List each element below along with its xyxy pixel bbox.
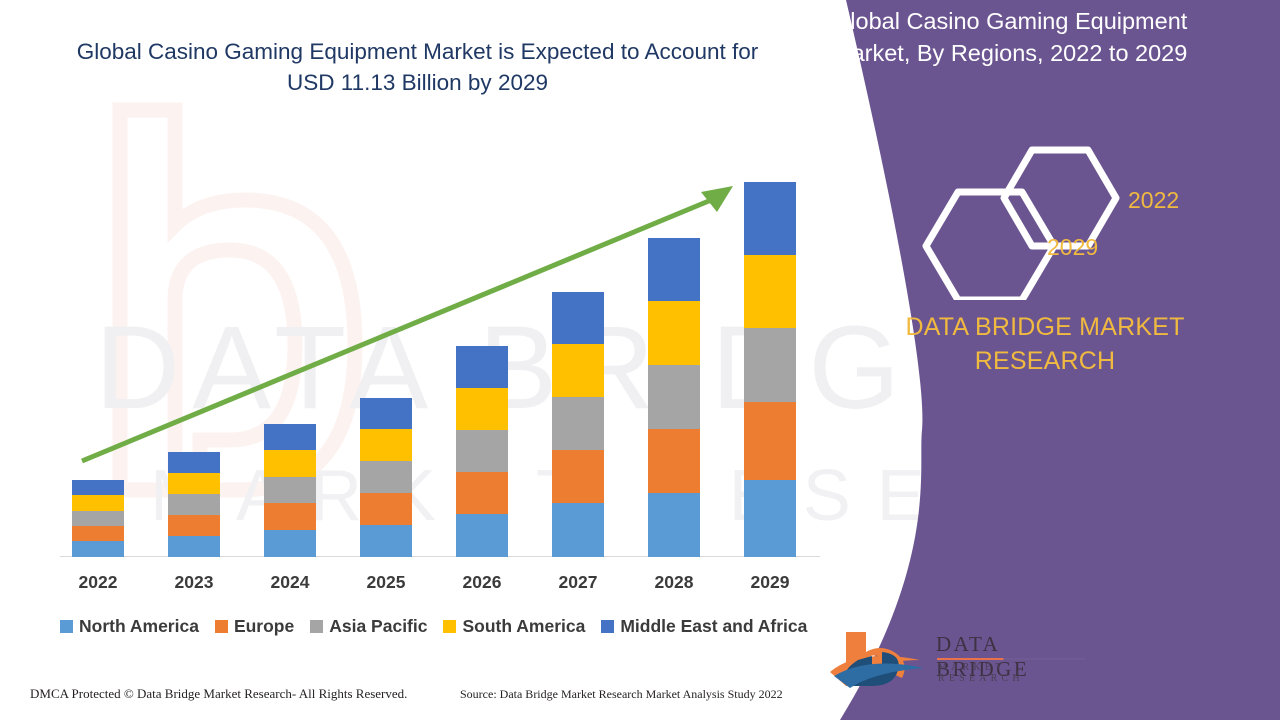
legend-item-europe[interactable]: Europe <box>215 616 294 637</box>
bar-segment <box>744 328 796 402</box>
bar-2028[interactable] <box>648 238 700 557</box>
bar-segment <box>360 525 412 557</box>
legend-label: Asia Pacific <box>329 616 427 637</box>
bar-segment <box>744 402 796 480</box>
data-bridge-logo-icon <box>828 630 933 692</box>
panel-title: Global Casino Gaming Equipment Market, B… <box>832 5 1232 69</box>
x-axis-label-2024: 2024 <box>250 572 330 593</box>
x-axis-label-2026: 2026 <box>442 572 522 593</box>
legend-swatch-icon <box>60 620 73 633</box>
bar-segment <box>168 536 220 557</box>
legend-item-middle-east-and-africa[interactable]: Middle East and Africa <box>601 616 807 637</box>
bar-segment <box>264 477 316 503</box>
bar-segment <box>264 424 316 450</box>
bar-segment <box>648 429 700 493</box>
legend-swatch-icon <box>443 620 456 633</box>
x-axis-label-2028: 2028 <box>634 572 714 593</box>
bar-segment <box>168 473 220 494</box>
legend-swatch-icon <box>215 620 228 633</box>
bar-segment <box>264 450 316 477</box>
legend-item-asia-pacific[interactable]: Asia Pacific <box>310 616 427 637</box>
bar-2027[interactable] <box>552 292 604 557</box>
footer-source: Source: Data Bridge Market Research Mark… <box>460 687 783 702</box>
bar-segment <box>72 480 124 495</box>
bar-segment <box>744 480 796 557</box>
bar-segment <box>648 301 700 365</box>
x-axis-label-2027: 2027 <box>538 572 618 593</box>
legend-swatch-icon <box>601 620 614 633</box>
bar-segment <box>552 344 604 397</box>
bar-2026[interactable] <box>456 346 508 557</box>
legend-item-south-america[interactable]: South America <box>443 616 585 637</box>
legend-item-north-america[interactable]: North America <box>60 616 199 637</box>
x-axis-label-2023: 2023 <box>154 572 234 593</box>
legend-label: Europe <box>234 616 294 637</box>
growth-arrow-icon <box>0 0 860 600</box>
brand-line-2: RESEARCH <box>820 344 1270 378</box>
bar-segment <box>456 388 508 430</box>
bar-segment <box>648 493 700 557</box>
bar-2023[interactable] <box>168 452 220 557</box>
bar-segment <box>168 515 220 536</box>
bar-2029[interactable] <box>744 182 796 557</box>
bar-segment <box>456 346 508 388</box>
legend-swatch-icon <box>310 620 323 633</box>
bar-segment <box>168 452 220 473</box>
legend-label: South America <box>462 616 585 637</box>
bar-segment <box>552 292 604 344</box>
bar-segment <box>168 494 220 515</box>
bar-segment <box>360 398 412 429</box>
bar-segment <box>744 182 796 255</box>
company-logo: DATA BRIDGE MARKET RESEARCH <box>828 630 1078 692</box>
bar-segment <box>72 495 124 511</box>
footer-copyright: DMCA Protected © Data Bridge Market Rese… <box>30 686 407 702</box>
bar-segment <box>360 429 412 461</box>
hex-badge-2029-label: 2029 <box>1047 234 1098 261</box>
bar-segment <box>552 397 604 450</box>
x-axis-labels: 20222023202420252026202720282029 <box>0 572 860 598</box>
logo-text-sub: MARKET RESEARCH <box>938 662 1078 684</box>
hexagon-outlines-icon <box>910 140 1220 300</box>
bar-segment <box>552 450 604 503</box>
x-axis-label-2025: 2025 <box>346 572 426 593</box>
bar-segment <box>360 461 412 493</box>
bar-segment <box>72 511 124 526</box>
right-purple-panel: Global Casino Gaming Equipment Market, B… <box>810 0 1280 720</box>
bar-segment <box>648 238 700 301</box>
chart-legend: North AmericaEuropeAsia PacificSouth Ame… <box>60 616 807 637</box>
brand-name: DATA BRIDGE MARKET RESEARCH <box>820 310 1270 378</box>
brand-line-1: DATA BRIDGE MARKET <box>820 310 1270 344</box>
bar-segment <box>264 530 316 557</box>
bar-segment <box>648 365 700 429</box>
hex-badge-2022-label: 2022 <box>1128 187 1179 214</box>
bar-segment <box>552 503 604 557</box>
bar-segment <box>72 526 124 541</box>
legend-label: Middle East and Africa <box>620 616 807 637</box>
bar-segment <box>456 514 508 557</box>
x-axis-label-2022: 2022 <box>58 572 138 593</box>
bar-2022[interactable] <box>72 480 124 557</box>
legend-label: North America <box>79 616 199 637</box>
bar-segment <box>456 472 508 514</box>
hex-badge-group: 2022 2029 <box>910 140 1220 300</box>
bar-segment <box>744 255 796 328</box>
bar-segment <box>264 503 316 530</box>
bar-segment <box>72 541 124 557</box>
logo-divider <box>937 658 1085 660</box>
bar-2024[interactable] <box>264 424 316 557</box>
chart-plot-area: 20222023202420252026202720282029 <box>0 0 860 600</box>
bar-segment <box>360 493 412 525</box>
bar-2025[interactable] <box>360 398 412 557</box>
x-axis-label-2029: 2029 <box>730 572 810 593</box>
infographic-page: DATA BRIDGE MARKET RESEARCH Global Casin… <box>0 0 1280 720</box>
bar-segment <box>456 430 508 472</box>
